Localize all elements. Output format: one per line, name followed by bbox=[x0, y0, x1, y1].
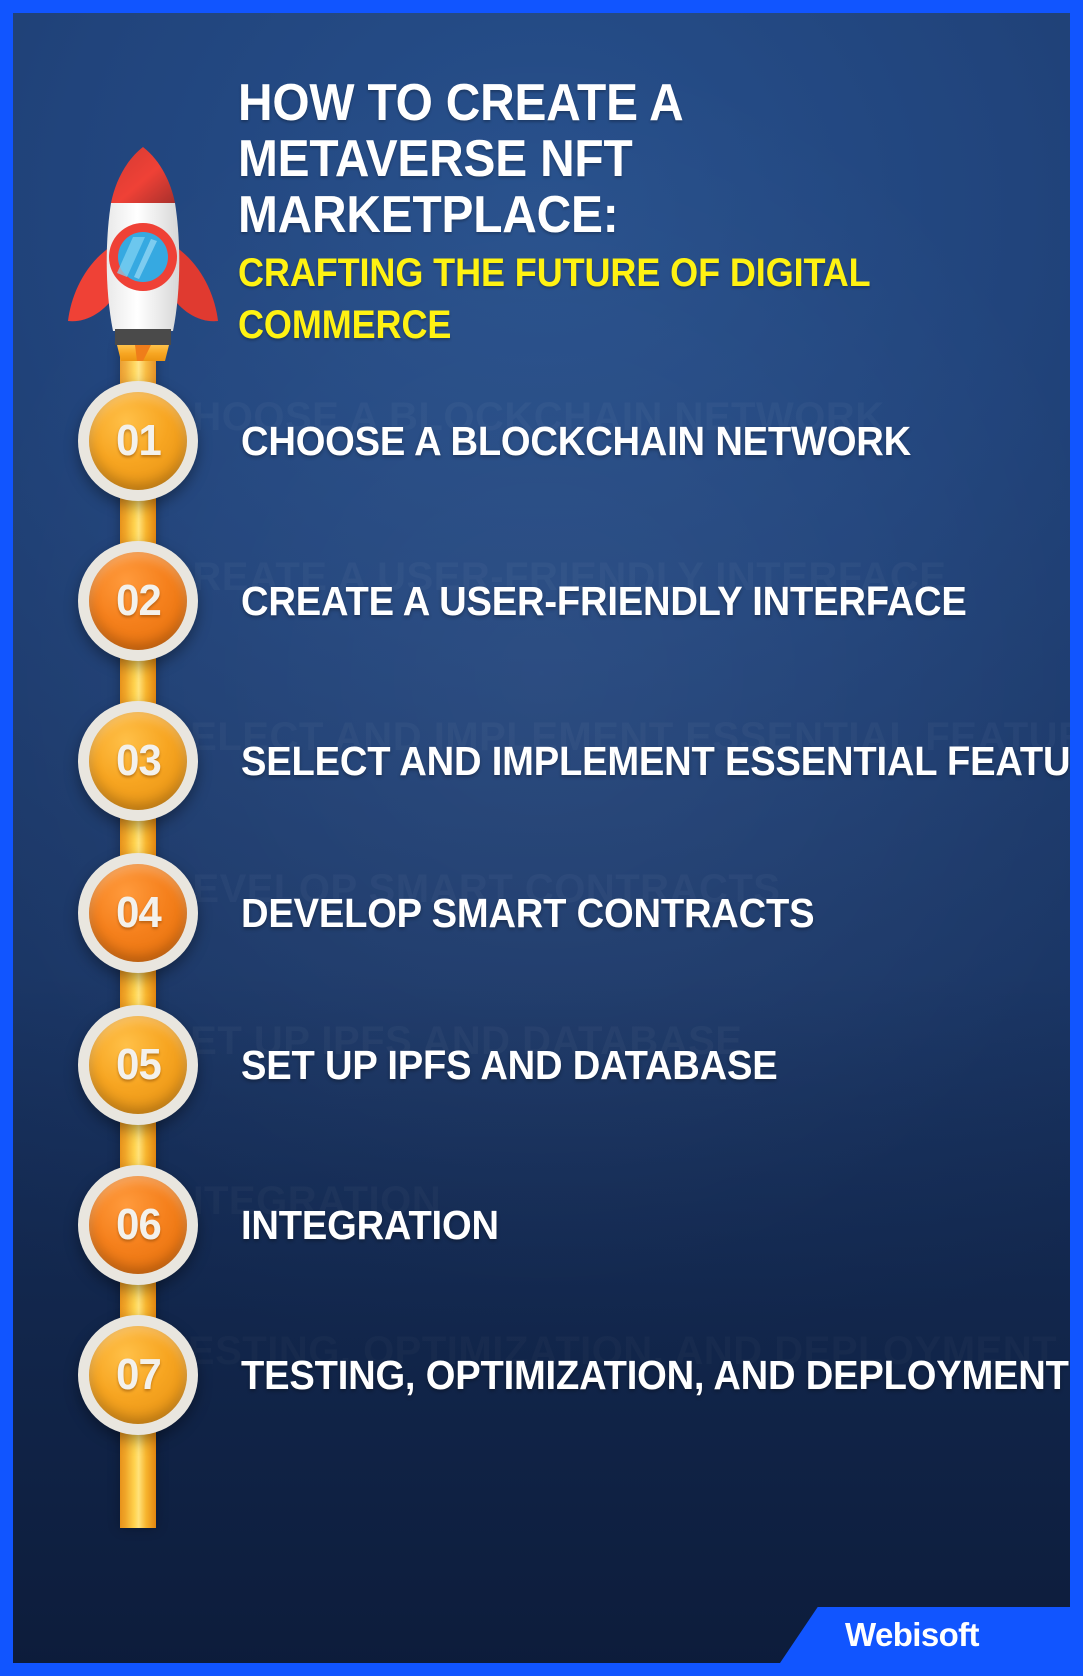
step-badge-disc: 05 bbox=[89, 1016, 187, 1114]
step-label: CREATE A USER-FRIENDLY INTERFACE bbox=[241, 541, 967, 661]
step-number: 04 bbox=[116, 888, 161, 938]
step-row: 07TESTING, OPTIMIZATION, AND DEPLOYMENT bbox=[13, 1315, 1070, 1435]
step-row: 01CHOOSE A BLOCKCHAIN NETWORK bbox=[13, 381, 1070, 501]
step-label: SELECT AND IMPLEMENT ESSENTIAL FEATURES bbox=[241, 701, 1070, 821]
step-label: INTEGRATION bbox=[241, 1165, 499, 1285]
step-row: 02CREATE A USER-FRIENDLY INTERFACE bbox=[13, 541, 1070, 661]
step-badge-04: 04 bbox=[78, 853, 198, 973]
title-subtitle: CRAFTING THE FUTURE OF DIGITAL COMMERCE bbox=[238, 247, 958, 351]
step-badge-disc: 01 bbox=[89, 392, 187, 490]
step-number: 05 bbox=[116, 1040, 161, 1090]
step-row: 06INTEGRATION bbox=[13, 1165, 1070, 1285]
step-badge-disc: 03 bbox=[89, 712, 187, 810]
step-badge-03: 03 bbox=[78, 701, 198, 821]
step-badge-disc: 06 bbox=[89, 1176, 187, 1274]
brand-name: Webisoft bbox=[845, 1616, 1005, 1654]
step-badge-disc: 04 bbox=[89, 864, 187, 962]
step-number: 02 bbox=[116, 576, 161, 626]
step-badge-06: 06 bbox=[78, 1165, 198, 1285]
step-badge-05: 05 bbox=[78, 1005, 198, 1125]
step-label: TESTING, OPTIMIZATION, AND DEPLOYMENT bbox=[241, 1315, 1069, 1435]
title-line-1: HOW TO CREATE A bbox=[238, 75, 974, 131]
title-line-2: METAVERSE NFT MARKETPLACE: bbox=[238, 131, 974, 243]
step-label: DEVELOP SMART CONTRACTS bbox=[241, 853, 814, 973]
step-number: 01 bbox=[116, 416, 161, 466]
step-number: 07 bbox=[116, 1350, 161, 1400]
step-badge-disc: 07 bbox=[89, 1326, 187, 1424]
step-badge-02: 02 bbox=[78, 541, 198, 661]
step-badge-01: 01 bbox=[78, 381, 198, 501]
step-number: 03 bbox=[116, 736, 161, 786]
page-title: HOW TO CREATE A METAVERSE NFT MARKETPLAC… bbox=[238, 75, 1038, 351]
brand-logo[interactable]: Webisoft bbox=[780, 1607, 1070, 1663]
step-number: 06 bbox=[116, 1200, 161, 1250]
step-row: 04DEVELOP SMART CONTRACTS bbox=[13, 853, 1070, 973]
step-badge-disc: 02 bbox=[89, 552, 187, 650]
step-badge-07: 07 bbox=[78, 1315, 198, 1435]
poster-canvas: TESTING, OPTIMIZATION, AND DEPLOYMENTINT… bbox=[13, 13, 1070, 1663]
step-row: 05SET UP IPFS AND DATABASE bbox=[13, 1005, 1070, 1125]
infographic-poster: TESTING, OPTIMIZATION, AND DEPLOYMENTINT… bbox=[0, 0, 1083, 1676]
step-label: SET UP IPFS AND DATABASE bbox=[241, 1005, 777, 1125]
rocket-icon bbox=[55, 145, 231, 361]
step-label: CHOOSE A BLOCKCHAIN NETWORK bbox=[241, 381, 911, 501]
step-row: 03SELECT AND IMPLEMENT ESSENTIAL FEATURE… bbox=[13, 701, 1070, 821]
